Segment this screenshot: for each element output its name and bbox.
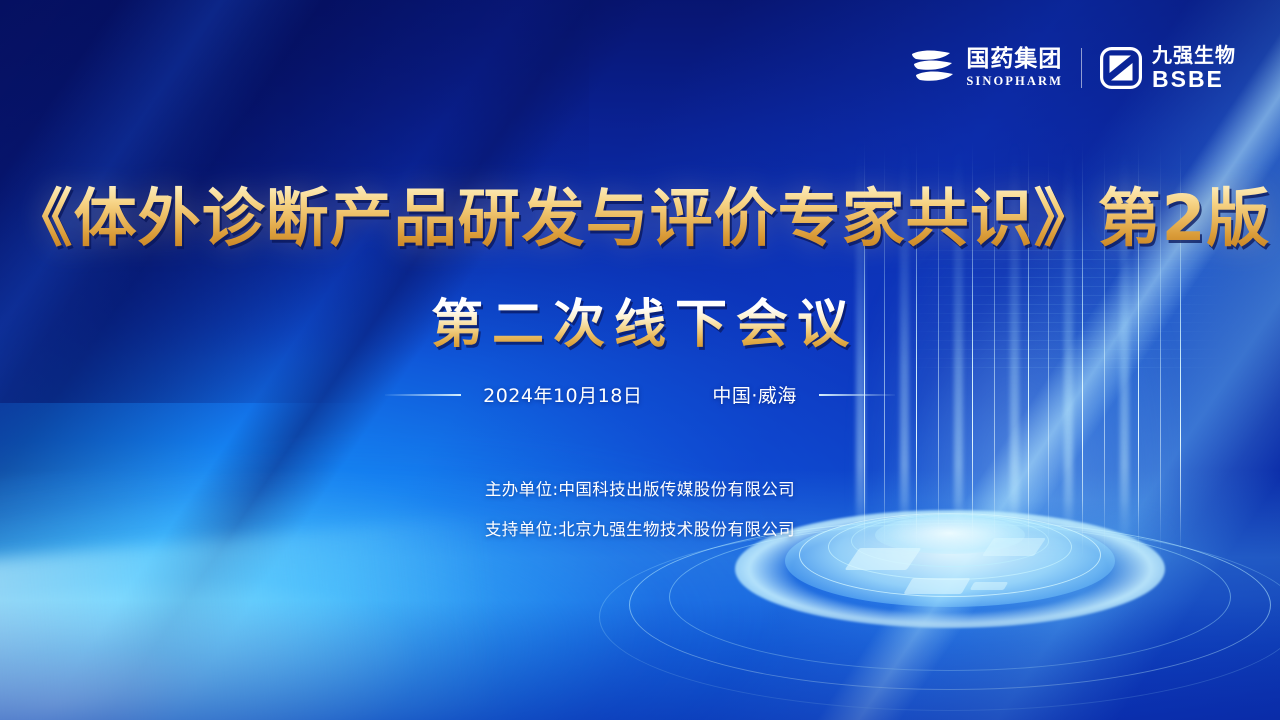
main-title-wrap: 《体外诊断产品研发与评价专家共识》第2版 (0, 168, 1280, 259)
conference-poster: 国药集团 SINOPHARM 九强生物 BSBE 《体外诊断产品研发与评价专家共… (0, 0, 1280, 720)
bsbe-text: 九强生物 BSBE (1152, 45, 1236, 91)
bsbe-en-label: BSBE (1152, 68, 1236, 91)
bsbe-square-icon (1100, 47, 1142, 89)
subtitle: 第二次线下会议 (422, 282, 858, 357)
organizer-host: 主办单位:中国科技出版传媒股份有限公司 (0, 476, 1280, 500)
sinopharm-en-label: SINOPHARM (966, 75, 1063, 88)
bsbe-logo: 九强生物 BSBE (1100, 45, 1236, 91)
subtitle-wrap: 第二次线下会议 (0, 282, 1280, 357)
main-title: 《体外诊断产品研发与评价专家共识》第2版 (10, 168, 1271, 259)
sinopharm-wave-icon (910, 47, 956, 89)
sinopharm-logo: 国药集团 SINOPHARM (910, 47, 1063, 89)
date-location-line: 2024年10月18日 中国·威海 (0, 381, 1280, 408)
bottom-vignette (0, 600, 1280, 720)
event-date: 2024年10月18日 (483, 381, 642, 408)
sinopharm-text: 国药集团 SINOPHARM (966, 48, 1063, 88)
dateline-rule-right (819, 394, 895, 396)
bsbe-cn-label: 九强生物 (1152, 45, 1236, 65)
organizer-block: 主办单位:中国科技出版传媒股份有限公司 支持单位:北京九强生物技术股份有限公司 (0, 476, 1280, 540)
dateline-rule-left (385, 394, 461, 396)
sinopharm-cn-label: 国药集团 (966, 48, 1063, 71)
logo-bar: 国药集团 SINOPHARM 九强生物 BSBE (910, 40, 1236, 96)
event-location: 中国·威海 (712, 381, 797, 408)
organizer-supporter: 支持单位:北京九强生物技术股份有限公司 (0, 516, 1280, 540)
logo-divider (1081, 48, 1082, 88)
